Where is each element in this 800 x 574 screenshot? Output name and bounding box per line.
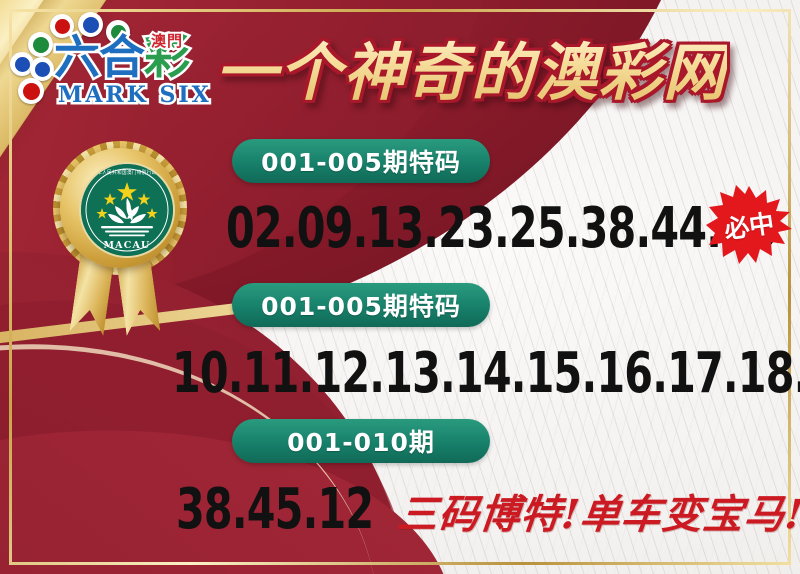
period-badge-1-label: 001-005期特码 [261,143,461,179]
numbers-row-2: 10.11.12.13.14.15.16.17.18.19 [172,341,800,406]
period-badge-3-label: 001-010期 [287,423,435,459]
promo-slogan: 三码博特!单车变宝马! [395,482,800,540]
period-badge-3[interactable]: 001-010期 [232,419,490,463]
period-badge-1[interactable]: 001-005期特码 [232,139,490,183]
numbers-row-1: 02.09.13.23.25.38.44.45 [226,196,777,261]
lottery-promo-poster: 六合彩 MARK SIX 澳門 一个神奇的澳彩网 [0,0,800,574]
starburst-label: 必中 [701,178,798,271]
guaranteed-hit-starburst[interactable]: 必中 [706,184,792,266]
period-badge-2[interactable]: 001-005期特码 [232,283,490,327]
numbers-row-3: 38.45.12 [176,477,373,542]
prediction-rows: 001-005期特码 02.09.13.23.25.38.44.45 001-0… [0,0,800,574]
period-badge-2-label: 001-005期特码 [261,287,461,323]
